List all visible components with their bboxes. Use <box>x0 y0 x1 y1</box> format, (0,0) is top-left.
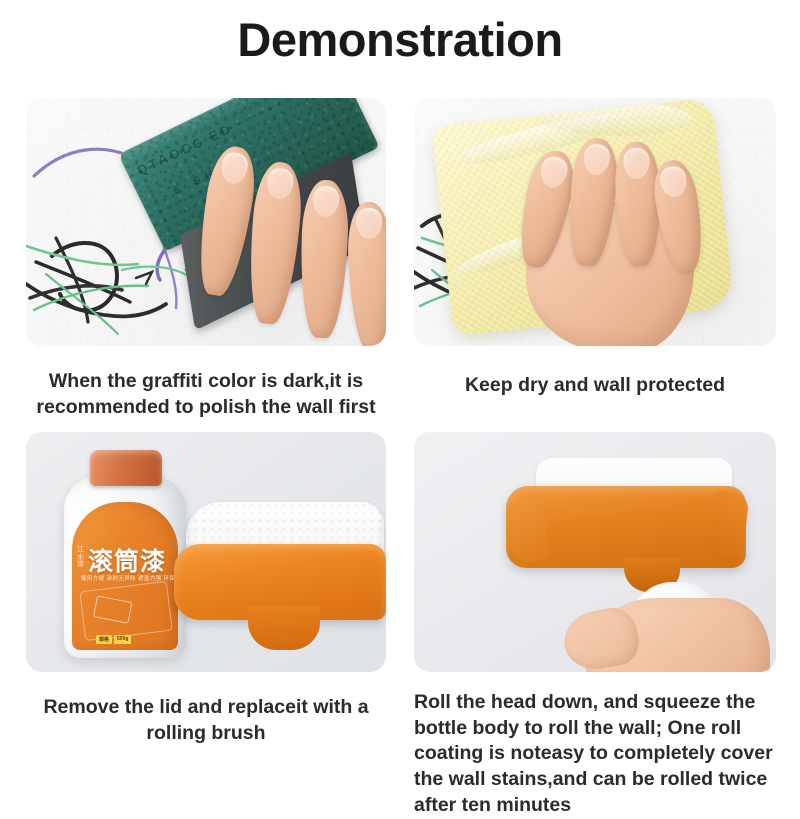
fingernail <box>312 186 339 218</box>
roller-brush-on-wall <box>502 458 757 588</box>
demonstration-page: Demonstration <box>0 0 800 800</box>
step-card-2: Keep dry and wall protected <box>414 98 776 398</box>
roller-arm-left <box>507 492 550 563</box>
hand-wiping <box>502 116 732 346</box>
step-card-3: 江水漆 滚筒漆 使用方便 涂刷无异味 遮盖力强 环保无甲醛 规格 500g Re… <box>26 432 386 747</box>
fingernail <box>582 143 611 176</box>
roller-neck <box>248 606 320 650</box>
paint-bottle: 江水漆 滚筒漆 使用方便 涂刷无异味 遮盖力强 环保无甲醛 规格 500g <box>64 450 186 658</box>
step-card-4: Roll the head down, and squeeze the bott… <box>414 432 776 819</box>
step-3-photo: 江水漆 滚筒漆 使用方便 涂刷无异味 遮盖力强 环保无甲醛 规格 500g <box>26 432 386 672</box>
fingernail <box>219 151 250 186</box>
roller-brush-head <box>174 502 386 652</box>
finger-little <box>346 201 386 346</box>
step-card-1: QTAOCC ED 5 SHS When the graffiti color … <box>26 98 386 421</box>
step-4-photo <box>414 432 776 672</box>
bottle-label-illustration <box>79 581 172 641</box>
badge-spec-label: 规格 <box>96 635 112 644</box>
step-3-caption: Remove the lid and replaceit with a roll… <box>26 694 386 747</box>
hand-squeezing-bottle <box>564 576 776 672</box>
roller-arm-right <box>709 490 750 559</box>
finger-index <box>192 143 261 298</box>
fingernail <box>658 165 689 200</box>
bottle-label-title: 滚筒漆 <box>88 542 166 578</box>
bottle-cap <box>90 450 162 486</box>
finger-ring <box>298 179 349 339</box>
step-1-photo: QTAOCC ED 5 SHS <box>26 98 386 346</box>
fingernail <box>265 167 294 200</box>
step-2-photo <box>414 98 776 346</box>
bottle-label: 江水漆 滚筒漆 使用方便 涂刷无异味 遮盖力强 环保无甲醛 规格 500g <box>72 502 178 650</box>
page-title: Demonstration <box>0 14 800 66</box>
step-1-caption: When the graffiti color is dark,it is re… <box>26 368 386 421</box>
fingernail <box>538 154 570 190</box>
badge-weight-value: 500g <box>114 635 131 644</box>
step-4-caption: Roll the head down, and squeeze the bott… <box>414 690 776 819</box>
roller-frame <box>506 486 746 568</box>
fingernail <box>356 208 383 240</box>
bottle-spec-badge: 规格 500g <box>96 635 131 644</box>
fingernail <box>623 148 650 180</box>
step-2-caption: Keep dry and wall protected <box>414 372 776 398</box>
hand-holding-sponge <box>189 128 386 346</box>
